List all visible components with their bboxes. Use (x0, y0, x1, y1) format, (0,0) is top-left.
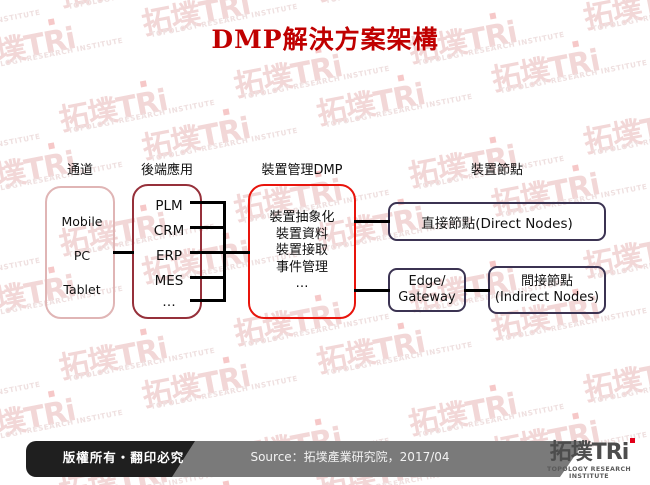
direct-nodes-label: 直接節點(Direct Nodes) (421, 212, 573, 232)
backend-item-crm: CRM (134, 223, 204, 239)
indirect-nodes-label-line1: 間接節點 (521, 274, 573, 290)
edge-gateway-box[interactable]: Edge/ Gateway (388, 268, 466, 312)
dmp-box[interactable]: 裝置抽象化 裝置資料 裝置接取 事件管理 … (248, 184, 356, 319)
column-label-channel: 通道 (45, 159, 115, 178)
channel-item-mobile: Mobile (47, 214, 117, 229)
column-label-backend: 後端應用 (127, 159, 207, 178)
connector-edge-to-indirect (464, 289, 490, 292)
edge-gateway-label-line2: Gateway (398, 290, 455, 306)
dmp-line-more: … (296, 276, 309, 293)
dmp-line-access: 裝置接取 (276, 243, 328, 260)
connector-dmp-to-direct (354, 220, 390, 223)
channel-item-tablet: Tablet (47, 282, 117, 297)
indirect-nodes-box[interactable]: 間接節點 (Indirect Nodes) (488, 266, 606, 314)
dmp-line-abstraction: 裝置抽象化 (269, 210, 334, 227)
tri-logo-accent-dot (630, 438, 635, 443)
connector-backend-bus (223, 201, 226, 302)
indirect-nodes-label-line2: (Indirect Nodes) (495, 290, 599, 306)
slide-canvas: 拓墣TRiTOPOLOGY RESEARCH INSTITUTE拓墣TRiTOP… (0, 0, 650, 485)
source-label: Source：拓墣產業研究院，2017/04 (205, 448, 495, 465)
connector-dmp-to-edge (354, 289, 390, 292)
dmp-line-data: 裝置資料 (276, 227, 328, 244)
backend-item-plm: PLM (134, 198, 204, 214)
backend-item-more: … (134, 294, 204, 310)
dmp-line-event: 事件管理 (276, 260, 328, 277)
backend-application-box[interactable]: PLM CRM ERP MES … (132, 184, 202, 319)
footer: 版權所有・翻印必究 Source：拓墣產業研究院，2017/04 拓墣TRi T… (0, 433, 650, 485)
channel-item-pc: PC (47, 248, 117, 263)
tri-logo-tagline: TOPOLOGY RESEARCH INSTITUTE (536, 466, 642, 480)
copyright-label: 版權所有・翻印必究 (36, 447, 211, 466)
page-title: DMP解決方案架構 (0, 20, 650, 56)
edge-gateway-label-line1: Edge/ (408, 274, 445, 290)
backend-item-erp: ERP (134, 248, 204, 264)
connector-bus-to-dmp (223, 251, 250, 254)
column-label-dmp: 裝置管理DMP (248, 159, 356, 178)
backend-item-mes: MES (134, 273, 204, 289)
tri-logo: 拓墣TRi TOPOLOGY RESEARCH INSTITUTE (536, 438, 642, 480)
channel-box[interactable]: Mobile PC Tablet (45, 186, 115, 319)
direct-nodes-box[interactable]: 直接節點(Direct Nodes) (388, 202, 606, 241)
column-label-nodes: 裝置節點 (430, 159, 564, 178)
tri-logo-wordmark: 拓墣TRi (550, 442, 629, 464)
